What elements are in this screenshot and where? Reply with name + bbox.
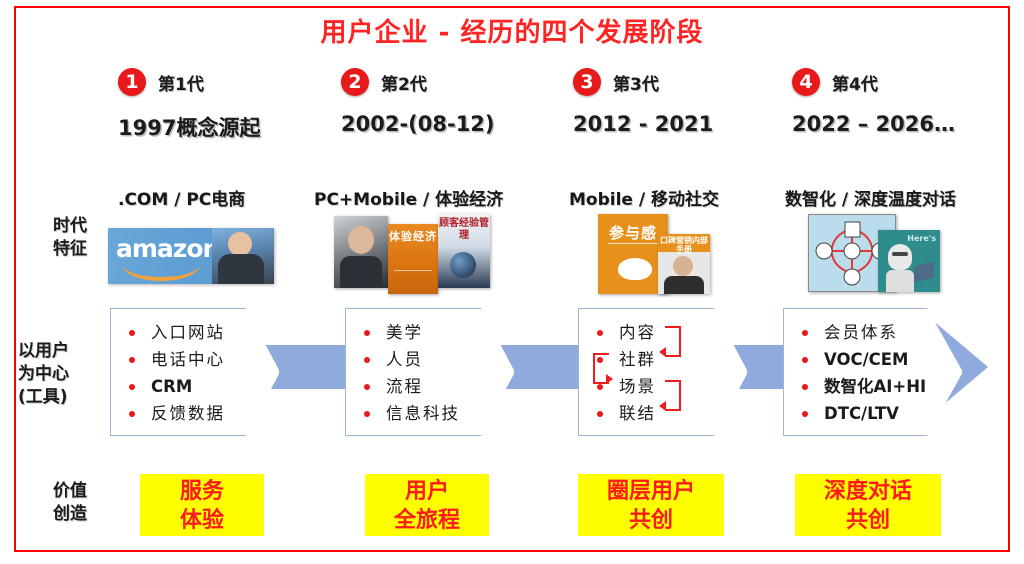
generation-column-3-header: 3 第3代 2012 - 2021	[573, 68, 809, 136]
value-line: 共创	[578, 506, 724, 535]
book-rule	[394, 270, 432, 271]
book-experience-economy: 体验经济	[388, 224, 438, 294]
generation-2-label: 第2代	[381, 70, 427, 95]
row-label-value-creation: 价值 创造	[24, 480, 116, 526]
era-caption-2: PC+Mobile / 体验经济	[314, 185, 503, 210]
value-line: 深度对话	[795, 477, 941, 506]
value-line: 用户	[365, 477, 489, 506]
tools-list-4: 会员体系 VOC/CEM 数智化AI+HI DTC/LTV	[784, 309, 962, 427]
value-box-1: 服务 体验	[140, 474, 264, 536]
tools-chevron-2[interactable]: 美学 人员 流程 信息科技	[345, 308, 515, 436]
amazon-wordmark: amazon	[116, 234, 219, 263]
row-label-value-line1: 价值	[24, 480, 116, 503]
generation-column-1-header: 1 第1代 1997概念源起	[118, 68, 354, 142]
amazon-smile-icon	[122, 261, 200, 281]
generation-1-years: 1997概念源起	[118, 112, 354, 142]
value-line: 全旅程	[365, 506, 489, 535]
generation-2-years: 2002-(08-12)	[341, 112, 577, 136]
generation-3-label: 第3代	[613, 70, 659, 95]
experience-economy-artwork: 体验经济 顾客经验管理	[332, 212, 512, 294]
portrait-suit	[340, 256, 382, 288]
bracket-arrow-into-scene	[606, 374, 613, 384]
generation-1-label: 第1代	[158, 70, 204, 95]
row-label-user-center: 以用户 为中心 (工具)	[18, 340, 118, 409]
pig-illustration-icon	[618, 258, 652, 280]
value-box-3: 圈层用户 共创	[578, 474, 724, 536]
value-line: 服务	[140, 477, 264, 506]
pine-portrait-photo	[334, 216, 388, 288]
tool-item: 人员	[360, 346, 514, 373]
tools-list-1: 入口网站 电话中心 CRM 反馈数据	[111, 309, 279, 427]
canyugan-artwork: 参与感 口碑营销内部手册	[592, 212, 752, 294]
xiaomi-handbook-title: 口碑营销内部手册	[658, 236, 710, 254]
bezos-face	[228, 232, 252, 256]
tool-item: CRM	[125, 373, 279, 400]
ai-robot-photo: Here's	[878, 230, 940, 292]
robot-body	[886, 270, 914, 292]
author-face	[673, 256, 693, 276]
amazon-photo: amazon	[108, 228, 274, 284]
row-label-era-line1: 时代	[24, 215, 116, 238]
ai-artwork: Here's	[806, 212, 966, 294]
tool-item: 数智化AI+HI	[798, 373, 962, 400]
generation-1-heading: 1 第1代	[118, 68, 354, 96]
xiaomi-handbook-photo: 口碑营销内部手册	[658, 234, 710, 294]
generation-3-heading: 3 第3代	[573, 68, 809, 96]
era-caption-4: 数智化 / 深度温度对话	[785, 185, 956, 210]
tool-item: 流程	[360, 373, 514, 400]
generation-4-years: 2022 – 2026…	[792, 112, 1024, 136]
magnifier-lens-icon	[450, 252, 476, 278]
generation-2-badge: 2	[341, 68, 369, 96]
generation-3-badge: 3	[573, 68, 601, 96]
value-box-4: 深度对话 共创	[795, 474, 941, 536]
row-label-center-line2: 为中心	[18, 363, 118, 386]
book-customer-experience-mgmt: 顾客经验管理	[438, 214, 490, 288]
bracket-arrow-into-community	[659, 347, 666, 357]
generation-4-heading: 4 第4代	[792, 68, 1024, 96]
bracket-arrow-into-connection	[659, 401, 666, 411]
robot-tablet	[914, 262, 934, 283]
ai-here-caption: Here's	[896, 234, 936, 243]
generation-column-4-header: 4 第4代 2022 – 2026…	[792, 68, 1024, 136]
generation-4-badge: 4	[792, 68, 820, 96]
value-line: 体验	[140, 506, 264, 535]
value-box-2: 用户 全旅程	[365, 474, 489, 536]
row-label-value-line2: 创造	[24, 503, 116, 526]
era-caption-1: .COM / PC电商	[118, 185, 245, 210]
row-label-center-line1: 以用户	[18, 340, 118, 363]
bezos-suit	[218, 254, 264, 284]
robot-eyes	[892, 252, 908, 256]
tools-chevron-3[interactable]: 内容 社群 场景 联结	[578, 308, 748, 436]
book-customer-mgmt-title: 顾客经验管理	[438, 218, 490, 242]
robot-head	[888, 244, 912, 270]
tools-list-2: 美学 人员 流程 信息科技	[346, 309, 514, 427]
slide-root: 用户企业 - 经历的四个发展阶段 1 第1代 1997概念源起 2 第2代 20…	[0, 0, 1024, 564]
tool-item: 电话中心	[125, 346, 279, 373]
value-line: 共创	[795, 506, 941, 535]
era-caption-3: Mobile / 移动社交	[569, 185, 719, 210]
bracket-content-to-community	[665, 326, 681, 357]
bracket-scene-to-connection	[665, 380, 681, 411]
tools-chevron-4[interactable]: 会员体系 VOC/CEM 数智化AI+HI DTC/LTV	[783, 308, 963, 436]
generation-4-label: 第4代	[832, 70, 878, 95]
row-label-era-line2: 特征	[24, 238, 116, 261]
book-experience-economy-title: 体验经济	[388, 230, 438, 243]
author-shirt	[664, 276, 704, 294]
generation-2-heading: 2 第2代	[341, 68, 577, 96]
generation-1-badge: 1	[118, 68, 146, 96]
page-title: 用户企业 - 经历的四个发展阶段	[0, 12, 1024, 49]
generation-3-years: 2012 - 2021	[573, 112, 809, 136]
portrait-face	[348, 226, 374, 254]
value-line: 圈层用户	[578, 477, 724, 506]
bezos-portrait	[212, 228, 274, 284]
tools-chevron-1[interactable]: 入口网站 电话中心 CRM 反馈数据	[110, 308, 280, 436]
row-label-center-line3: (工具)	[18, 386, 118, 409]
tool-item: VOC/CEM	[798, 346, 962, 373]
book-rule	[608, 243, 658, 244]
generation-column-2-header: 2 第2代 2002-(08-12)	[341, 68, 577, 136]
row-label-era: 时代 特征	[24, 215, 116, 261]
